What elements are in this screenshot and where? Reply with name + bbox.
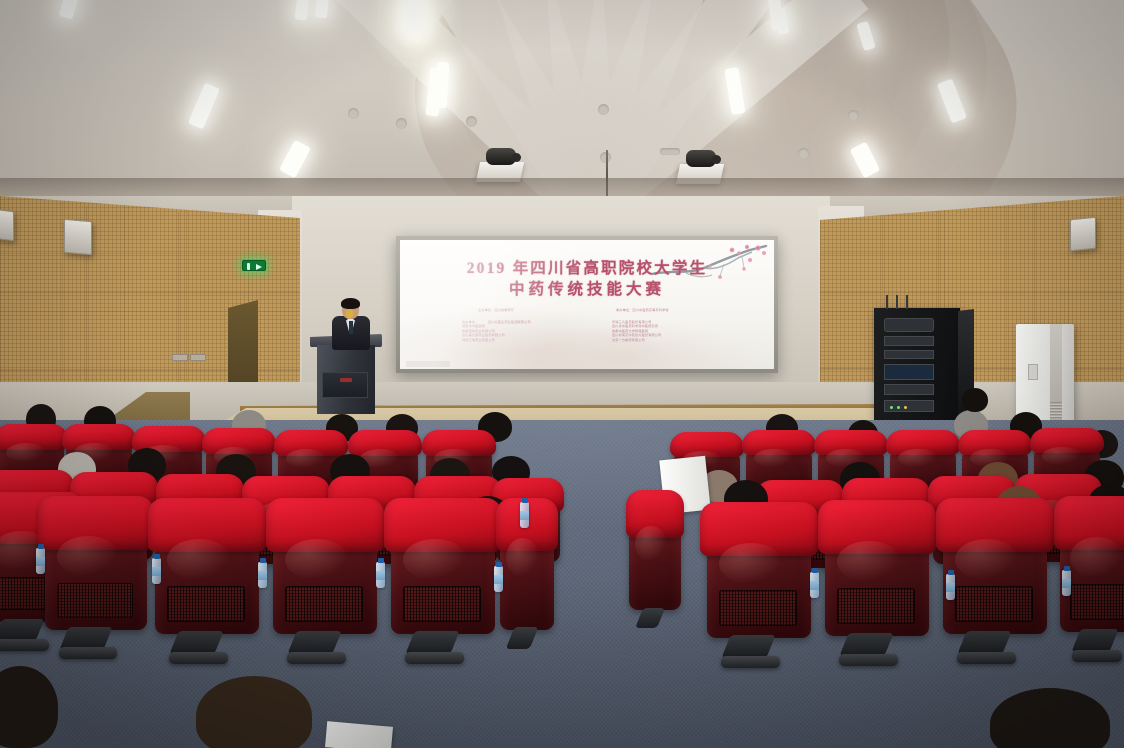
- slide-sponsor-right: 华润三九医药股份有限公司 四川省中医药科学院中医研究所 成都中医药大学附属医院 …: [612, 320, 661, 342]
- ceiling-light: [59, 0, 80, 19]
- water-bottle[interactable]: [946, 574, 955, 600]
- wall-outlet[interactable]: [172, 354, 188, 361]
- presenter-tie: [349, 321, 353, 334]
- wall-outlet[interactable]: [190, 354, 206, 361]
- audience-member-standing: [962, 388, 988, 412]
- audience-member-foreground: [196, 676, 312, 748]
- auditorium-seat[interactable]: [818, 500, 936, 636]
- ceiling-vent-dot: [798, 148, 809, 159]
- ceiling-light: [435, 62, 449, 109]
- auditorium-seat[interactable]: [936, 498, 1054, 634]
- ceiling-light: [295, 0, 310, 21]
- slide-title-line-1: 2019 年四川省高职院校大学生: [400, 258, 774, 279]
- ceiling-vent-dot: [396, 118, 407, 129]
- auditorium-photo: 2019 年四川省高职院校大学生 中药传统技能大赛 主办单位：四川省教育厅 承办…: [0, 0, 1124, 748]
- wall-speaker: [0, 209, 14, 241]
- water-bottle[interactable]: [1062, 570, 1071, 596]
- wall-speaker: [1070, 217, 1096, 252]
- slide-title: 2019 年四川省高职院校大学生 中药传统技能大赛: [400, 258, 774, 300]
- ceiling-light: [279, 140, 311, 178]
- printed-papers[interactable]: [325, 721, 393, 748]
- slide-host-line: 主办单位：四川省教育厅: [478, 308, 514, 312]
- auditorium-seat[interactable]: [148, 498, 266, 634]
- water-bottle[interactable]: [152, 558, 161, 584]
- audience-member-foreground: [990, 688, 1110, 748]
- ceiling-vent-dot: [348, 108, 359, 119]
- handheld-microphone: [346, 309, 353, 318]
- auditorium-seat[interactable]: [38, 496, 154, 630]
- slide-sponsor-left: 协办单位：四川好医生药业集团有限公司 绵阳市中医医院 成都倍特药业有限公司 四川…: [462, 320, 531, 342]
- water-bottle[interactable]: [520, 502, 529, 528]
- podium-logo: [340, 378, 352, 382]
- slide-title-line-2: 中药传统技能大赛: [400, 279, 774, 300]
- audience-member-foreground: [0, 666, 58, 748]
- presenter: [330, 300, 372, 348]
- slide-organizer-line: 承办单位：四川中医药高等专科学校: [616, 308, 669, 312]
- ceiling-vent-dot: [848, 110, 859, 121]
- water-bottle[interactable]: [376, 562, 385, 588]
- ceiling-vent-dot: [598, 104, 609, 115]
- podium-panel: [322, 372, 368, 398]
- exit-sign: [242, 260, 266, 271]
- ceiling-vent-dot: [466, 116, 477, 127]
- water-bottle[interactable]: [258, 562, 267, 588]
- projection-screen: 2019 年四川省高职院校大学生 中药传统技能大赛 主办单位：四川省教育厅 承办…: [400, 240, 774, 369]
- water-bottle[interactable]: [36, 548, 45, 574]
- ac-display: [1028, 364, 1038, 380]
- ceiling-light: [188, 83, 220, 130]
- water-bottle[interactable]: [810, 572, 819, 598]
- projection-screen-frame: 2019 年四川省高职院校大学生 中药传统技能大赛 主办单位：四川省教育厅 承办…: [396, 236, 778, 373]
- screen-bottom-tab: [406, 361, 450, 367]
- auditorium-seat[interactable]: [626, 490, 684, 610]
- wall-speaker: [64, 219, 92, 255]
- auditorium-seat[interactable]: [1054, 496, 1124, 632]
- ceiling: [0, 0, 1124, 196]
- auditorium-seat[interactable]: [266, 498, 384, 634]
- ceiling-smoke-detector: [660, 148, 680, 155]
- auditorium-seat[interactable]: [384, 498, 502, 634]
- auditorium-seat[interactable]: [700, 502, 818, 638]
- water-bottle[interactable]: [494, 566, 503, 592]
- ceiling-light: [405, 2, 419, 33]
- ceiling-light: [315, 0, 329, 19]
- presenter-hair: [341, 298, 360, 309]
